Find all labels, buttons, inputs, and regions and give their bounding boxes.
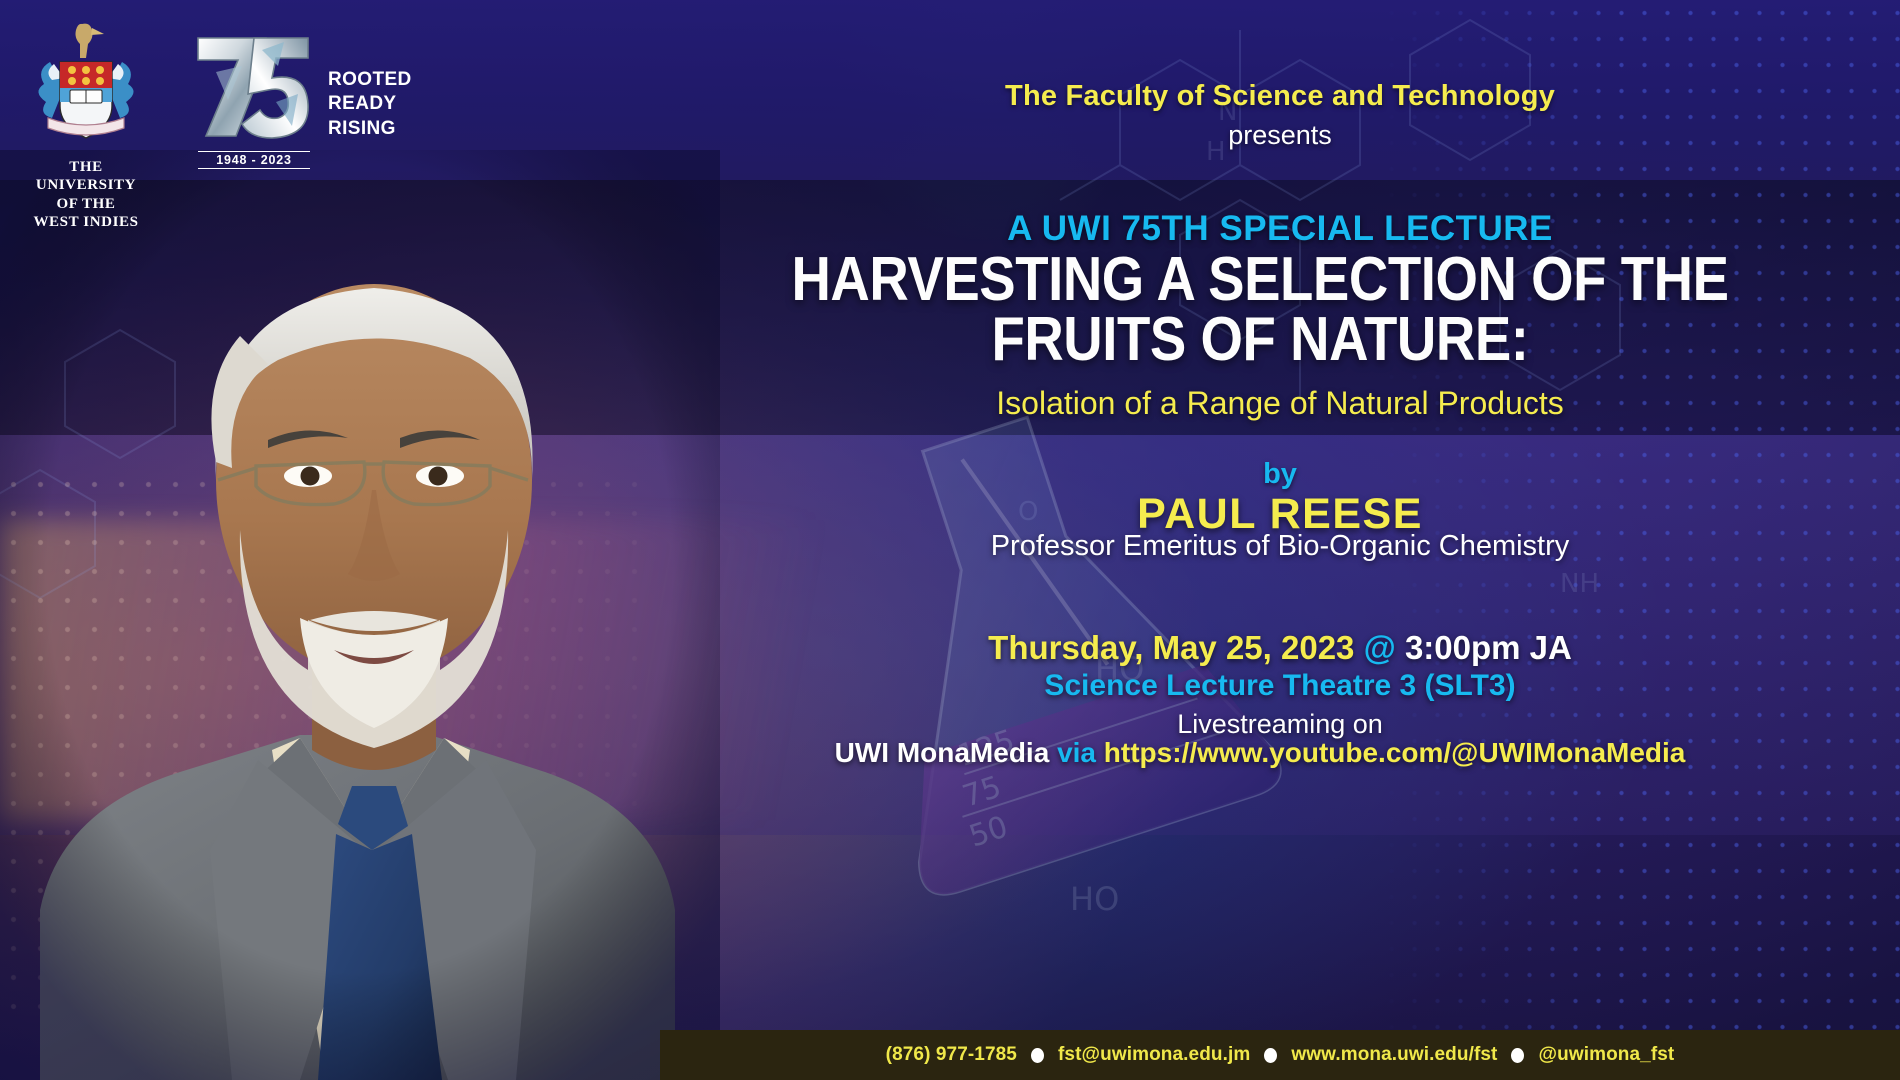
university-crest-block: THE UNIVERSITY OF THE WEST INDIES xyxy=(22,18,150,231)
contact-email[interactable]: fst@uwimona.edu.jm xyxy=(1058,1044,1250,1066)
speaker-portrait xyxy=(0,150,720,1080)
lecture-subtitle: Isolation of a Range of Natural Products xyxy=(660,385,1900,422)
lecture-poster: N H NH O 125 75 50 xyxy=(0,0,1900,1080)
bullet-dot-icon xyxy=(1031,1048,1044,1063)
lecture-kicker: A UWI 75TH SPECIAL LECTURE xyxy=(660,209,1900,249)
event-datetime: Thursday, May 25, 2023 @ 3:00pm JA xyxy=(660,629,1900,667)
livestream-channel: UWI MonaMedia xyxy=(835,737,1050,768)
contact-website[interactable]: www.mona.uwi.edu/fst xyxy=(1291,1044,1497,1066)
lecture-title: HARVESTING A SELECTION OF THE FRUITS OF … xyxy=(697,250,1823,369)
tagline-ready: READY xyxy=(328,92,412,116)
bullet-dot-icon xyxy=(1264,1048,1277,1063)
livestream-label: Livestreaming on xyxy=(660,709,1900,740)
branding-lockup: THE UNIVERSITY OF THE WEST INDIES xyxy=(22,18,412,231)
by-label: by xyxy=(660,458,1900,491)
tagline-rooted: ROOTED xyxy=(328,68,412,92)
university-name-line-3: WEST INDIES xyxy=(22,213,150,231)
faculty-name: The Faculty of Science and Technology xyxy=(660,80,1900,113)
svg-text:HO: HO xyxy=(1070,880,1119,918)
contact-social-handle[interactable]: @uwimona_fst xyxy=(1538,1044,1674,1066)
anniversary-years: 1948 - 2023 xyxy=(198,151,310,169)
university-name-line-1: THE UNIVERSITY xyxy=(22,158,150,195)
at-symbol: @ xyxy=(1364,629,1396,666)
contact-phone[interactable]: (876) 977-1785 xyxy=(886,1044,1017,1066)
tagline-rising: RISING xyxy=(328,117,412,141)
university-name-line-2: OF THE xyxy=(22,195,150,213)
livestream-via: via xyxy=(1057,737,1096,768)
event-time: 3:00pm JA xyxy=(1405,629,1572,666)
uwi-coat-of-arms-icon xyxy=(30,18,142,150)
livestream-details: UWI MonaMedia via https://www.youtube.co… xyxy=(620,737,1900,769)
event-date: Thursday, May 25, 2023 xyxy=(988,629,1354,666)
anniversary-75-icon xyxy=(192,32,314,144)
livestream-url[interactable]: https://www.youtube.com/@UWIMonaMedia xyxy=(1104,737,1686,768)
speaker-title: Professor Emeritus of Bio-Organic Chemis… xyxy=(660,530,1900,563)
anniversary-tagline: ROOTED READY RISING xyxy=(328,68,412,141)
event-venue: Science Lecture Theatre 3 (SLT3) xyxy=(660,669,1900,703)
lecture-title-line-1: HARVESTING A SELECTION OF THE xyxy=(697,250,1823,310)
contact-footer-bar: (876) 977-1785 fst@uwimona.edu.jm www.mo… xyxy=(660,1030,1900,1080)
lecture-title-line-2: FRUITS OF NATURE: xyxy=(697,310,1823,370)
bullet-dot-icon xyxy=(1511,1048,1524,1063)
presents-label: presents xyxy=(660,120,1900,151)
university-name: THE UNIVERSITY OF THE WEST INDIES xyxy=(22,158,150,231)
anniversary-logo: 1948 - 2023 ROOTED READY RISING xyxy=(192,32,412,169)
